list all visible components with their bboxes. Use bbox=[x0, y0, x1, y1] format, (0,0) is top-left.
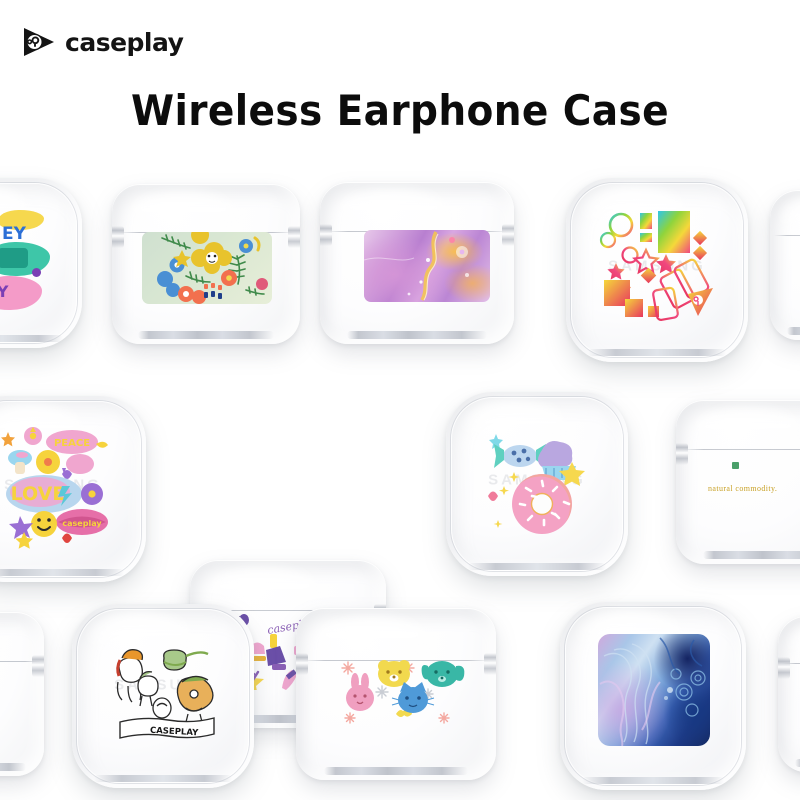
case-gloss bbox=[210, 568, 320, 612]
svg-text:PEACE: PEACE bbox=[54, 438, 90, 449]
product-case-hand-drawn-kitchen-characters[interactable]: SAMSUNG bbox=[72, 604, 254, 788]
product-case-blue-purple-marble[interactable] bbox=[560, 602, 746, 790]
hinge-left-icon bbox=[676, 443, 688, 465]
product-case-pastel-animal-faces[interactable] bbox=[296, 608, 496, 780]
artwork-natural-commodity-text: natural commodity. bbox=[708, 484, 777, 493]
brand-logo[interactable]: caseplay bbox=[22, 20, 183, 64]
hinge-right-icon bbox=[32, 655, 44, 677]
green-leaf-mark-icon bbox=[732, 462, 739, 469]
page-title: Wireless Earphone Case bbox=[28, 88, 772, 134]
product-case-retro-sticker-collage[interactable]: SAMSUNG PEACE bbox=[0, 396, 146, 582]
product-case-clear-plain[interactable] bbox=[770, 190, 800, 340]
product-case-hey-day-lettering[interactable]: EY AY bbox=[0, 178, 82, 348]
product-case-clear-plain[interactable] bbox=[0, 612, 44, 776]
hinge-right-icon bbox=[484, 653, 496, 675]
product-case-clear-plain[interactable] bbox=[778, 616, 800, 772]
product-case-purple-gold-marble[interactable] bbox=[320, 182, 514, 344]
product-case-natural-commodity[interactable]: natural commodity. bbox=[676, 400, 800, 564]
product-case-pastel-sweets-donut[interactable]: SAMSUNG bbox=[446, 392, 628, 576]
artwork-kitchen-characters: CASEPLAY bbox=[108, 642, 222, 742]
product-banner-page: caseplay Wireless Earphone Case EY AY bbox=[0, 0, 800, 800]
artwork-sticker-collage: PEACE LOVE bbox=[0, 424, 120, 550]
hinge-left-icon bbox=[778, 657, 790, 679]
case-gloss bbox=[131, 192, 236, 234]
hinge-left-icon bbox=[112, 226, 124, 248]
svg-text:CASEPLAY: CASEPLAY bbox=[150, 726, 200, 739]
artwork-gradient-geometric bbox=[596, 206, 720, 328]
hinge-left-icon bbox=[320, 224, 332, 246]
case-gloss bbox=[782, 198, 800, 237]
case-gloss bbox=[339, 190, 448, 232]
artwork-blue-marble bbox=[598, 634, 710, 746]
artwork-retro-floral bbox=[142, 232, 272, 304]
product-gallery: EY AY bbox=[0, 160, 800, 800]
case-gloss bbox=[316, 617, 428, 662]
hinge-left-icon bbox=[296, 653, 308, 675]
svg-text:caseplay: caseplay bbox=[62, 519, 102, 528]
artwork-purple-marble bbox=[364, 230, 490, 302]
artwork-hey-day: EY AY bbox=[0, 206, 82, 322]
case-gloss bbox=[695, 408, 800, 451]
product-case-gradient-geometric-confetti[interactable]: SAMSUNG bbox=[566, 178, 748, 362]
artwork-pastel-sweets bbox=[480, 428, 594, 538]
hinge-right-icon bbox=[288, 226, 300, 248]
brand-name: caseplay bbox=[65, 30, 183, 55]
artwork-animal-faces bbox=[336, 656, 468, 732]
hinge-right-icon bbox=[502, 224, 514, 246]
product-case-retro-floral-garden[interactable] bbox=[112, 184, 300, 344]
case-gloss bbox=[790, 624, 800, 665]
svg-text:LOVE: LOVE bbox=[11, 483, 66, 505]
caseplay-play-triangle-cp-logo bbox=[22, 26, 56, 58]
